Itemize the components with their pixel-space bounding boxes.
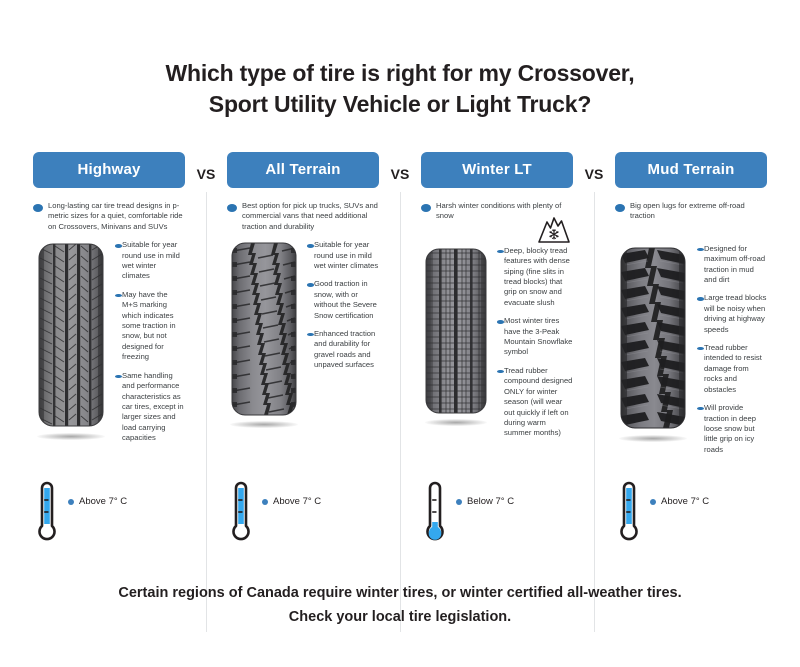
temperature-label: Above 7° C — [273, 496, 321, 507]
comparison-columns: Highway Long-lasting car tire tread desi… — [0, 152, 800, 463]
list-item: Tread rubber compound designed ONLY for … — [497, 366, 573, 439]
tire-shadow — [425, 419, 487, 426]
vs-spacer — [576, 478, 612, 550]
bullet-dot-icon — [697, 297, 704, 300]
title-line-2: Sport Utility Vehicle or Light Truck? — [0, 89, 800, 120]
bullet-dot-icon — [227, 204, 237, 212]
body-row-all-terrain: Suitable for year round use in mild wet … — [227, 240, 379, 428]
sub-bullets-all-terrain: Suitable for year round use in mild wet … — [301, 240, 379, 378]
list-item: Suitable for year round use in mild wet … — [307, 240, 379, 271]
column-all-terrain: All Terrain Best option for pick up truc… — [224, 152, 382, 463]
body-row-highway: Suitable for year round use in mild wet … — [33, 240, 185, 451]
lead-bullet-all-terrain: Best option for pick up trucks, SUVs and… — [227, 201, 379, 232]
sub-bullets-winter-lt: Deep, blocky tread features with dense s… — [491, 246, 573, 447]
column-highway: Highway Long-lasting car tire tread desi… — [30, 152, 188, 463]
column-divider — [594, 192, 595, 632]
list-item: Tread rubber intended to resist damage f… — [697, 343, 767, 395]
tire-shadow — [619, 435, 687, 442]
lead-bullet-text: Long-lasting car tire tread designs in p… — [48, 201, 185, 232]
bullet-dot-icon — [33, 204, 43, 212]
column-title-mud-terrain[interactable]: Mud Terrain — [615, 152, 767, 188]
sub-bullets-mud-terrain: Designed for maximum off-road traction i… — [691, 244, 767, 463]
highway-tire-icon — [33, 240, 109, 430]
lead-bullet-text: Best option for pick up trucks, SUVs and… — [242, 201, 379, 232]
column-mud-terrain: Mud Terrain Big open lugs for extreme of… — [612, 152, 770, 463]
bullet-dot-icon — [421, 204, 431, 212]
winter-tire-icon — [421, 246, 491, 416]
tire-image-winter-lt — [421, 246, 491, 426]
temperature-cell-mud-terrain: Above 7° C — [612, 478, 770, 550]
tire-shadow — [37, 433, 105, 440]
thermometer-warm-icon — [615, 478, 643, 550]
footer-note: Certain regions of Canada require winter… — [0, 581, 800, 629]
column-divider — [206, 192, 207, 632]
vs-separator-2: VS — [382, 152, 418, 463]
body-row-winter-lt: Deep, blocky tread features with dense s… — [421, 246, 573, 447]
lead-bullet-mud-terrain: Big open lugs for extreme off-road tract… — [615, 201, 767, 222]
temperature-cell-all-terrain: Above 7° C — [224, 478, 382, 550]
tire-image-mud-terrain — [615, 244, 691, 442]
bullet-dot-icon — [615, 204, 625, 212]
vs-label: VS — [188, 166, 224, 182]
thermometer-warm-icon — [227, 478, 255, 550]
tire-image-all-terrain — [227, 240, 301, 428]
list-item: Large tread blocks will be noisy when dr… — [697, 293, 767, 335]
vs-separator-3: VS — [576, 152, 612, 463]
list-item: Enhanced traction and durability for gra… — [307, 329, 379, 371]
bullet-dot-icon — [307, 283, 314, 286]
lead-bullet-highway: Long-lasting car tire tread designs in p… — [33, 201, 185, 232]
temperature-label: Below 7° C — [467, 496, 514, 507]
list-item: Designed for maximum off-road traction i… — [697, 244, 767, 286]
mud-terrain-tire-icon — [615, 244, 691, 432]
temperature-row: Above 7° C Above 7° C — [0, 478, 800, 550]
thermometer-cold-icon — [421, 478, 449, 550]
bullet-dot-icon — [115, 244, 122, 247]
list-item: Deep, blocky tread features with dense s… — [497, 246, 573, 308]
vs-spacer — [188, 478, 224, 550]
temperature-label: Above 7° C — [661, 496, 709, 507]
bullet-dot-icon — [697, 407, 704, 410]
list-item: Same handling and performance characteri… — [115, 371, 185, 444]
list-item: May have the M+S marking which indicates… — [115, 290, 185, 363]
bullet-dot-icon — [307, 333, 314, 336]
tire-image-highway — [33, 240, 109, 440]
list-item: Most winter tires have the 3-Peak Mounta… — [497, 316, 573, 358]
list-item: Suitable for year round use in mild wet … — [115, 240, 185, 282]
list-item: Will provide traction in deep loose snow… — [697, 403, 767, 455]
footer-line-1: Certain regions of Canada require winter… — [0, 581, 800, 605]
vs-separator-1: VS — [188, 152, 224, 463]
vs-spacer — [382, 478, 418, 550]
footer-line-2: Check your local tire legislation. — [0, 605, 800, 629]
bullet-dot-icon — [650, 499, 656, 505]
temperature-label: Above 7° C — [79, 496, 127, 507]
bullet-dot-icon — [68, 499, 74, 505]
body-row-mud-terrain: Designed for maximum off-road traction i… — [615, 244, 767, 463]
all-terrain-tire-icon — [227, 240, 301, 418]
column-title-winter-lt[interactable]: Winter LT — [421, 152, 573, 188]
bullet-dot-icon — [697, 347, 704, 350]
bullet-dot-icon — [307, 244, 314, 247]
lead-bullet-winter-lt: Harsh winter conditions with plenty of s… — [421, 201, 573, 222]
bullet-dot-icon — [262, 499, 268, 505]
vs-label: VS — [382, 166, 418, 182]
column-winter-lt: Winter LT Harsh winter conditions with p… — [418, 152, 576, 463]
bullet-dot-icon — [456, 499, 462, 505]
thermometer-warm-icon — [33, 478, 61, 550]
bullet-dot-icon — [697, 248, 704, 251]
bullet-dot-icon — [115, 294, 122, 297]
bullet-dot-icon — [115, 375, 122, 378]
column-title-highway[interactable]: Highway — [33, 152, 185, 188]
title-line-1: Which type of tire is right for my Cross… — [0, 58, 800, 89]
bullet-dot-icon — [497, 370, 504, 373]
page-title: Which type of tire is right for my Cross… — [0, 0, 800, 120]
bullet-dot-icon — [497, 320, 504, 323]
tire-shadow — [230, 421, 298, 428]
temperature-cell-highway: Above 7° C — [30, 478, 188, 550]
three-peak-mountain-snowflake-icon — [537, 215, 571, 250]
list-item: Good traction in snow, with or without t… — [307, 279, 379, 321]
column-divider — [400, 192, 401, 632]
vs-label: VS — [576, 166, 612, 182]
sub-bullets-highway: Suitable for year round use in mild wet … — [109, 240, 185, 451]
column-title-all-terrain[interactable]: All Terrain — [227, 152, 379, 188]
lead-bullet-text: Big open lugs for extreme off-road tract… — [630, 201, 767, 222]
temperature-cell-winter-lt: Below 7° C — [418, 478, 576, 550]
bullet-dot-icon — [497, 250, 504, 253]
